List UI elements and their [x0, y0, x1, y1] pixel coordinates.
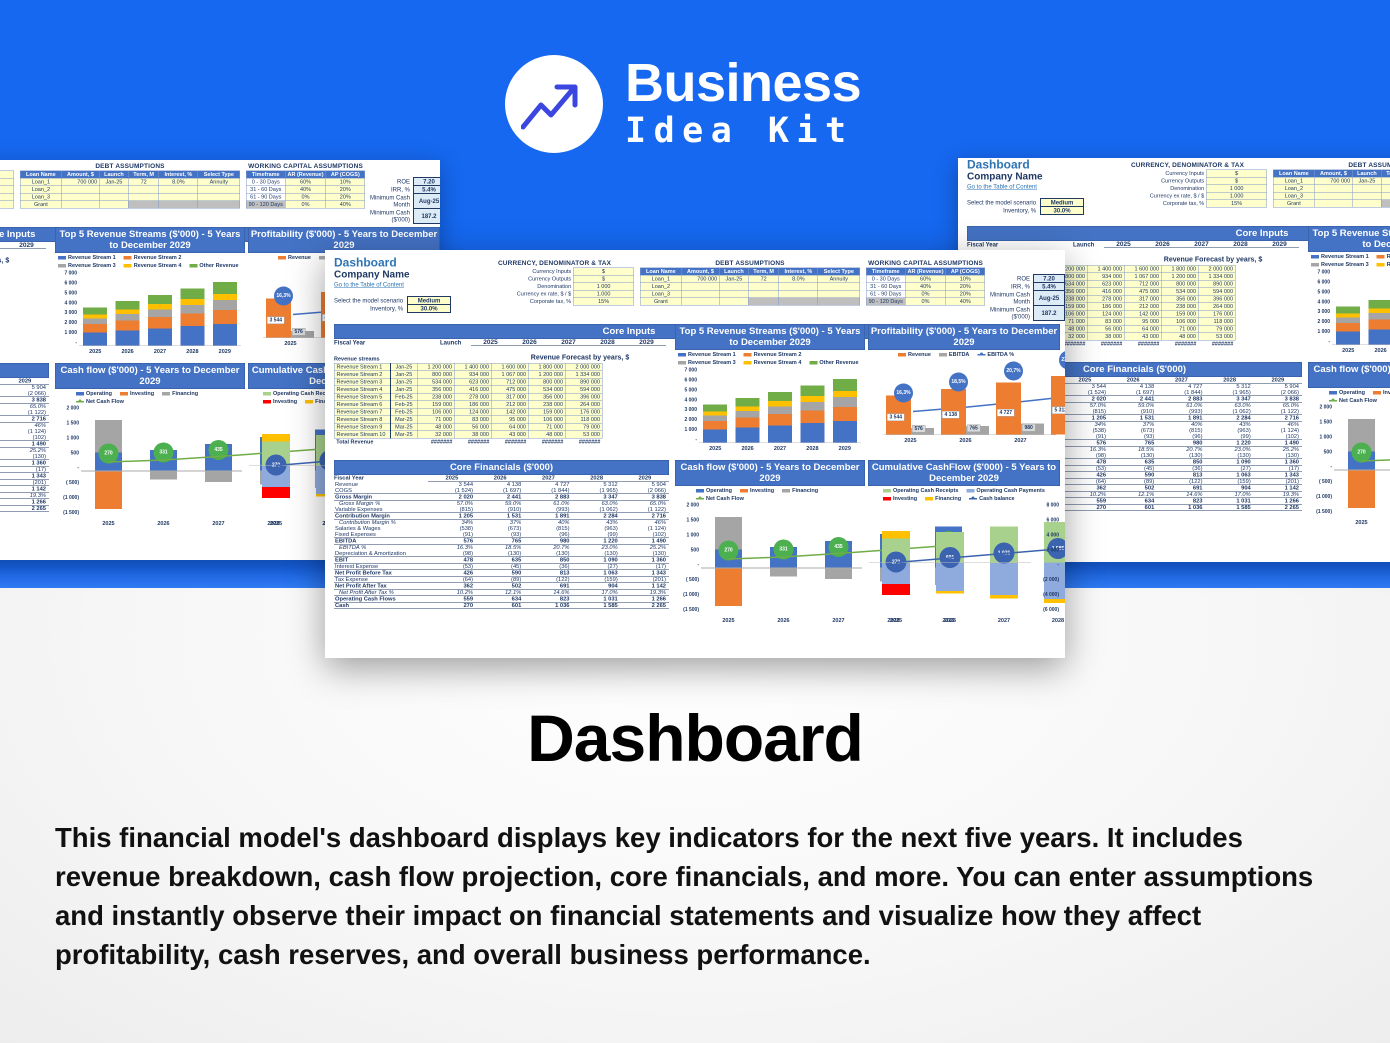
currency-box-caption: CURRENCY, DENOMINATOR & TAX — [1108, 161, 1267, 169]
table-cell[interactable]: Annuity — [818, 275, 860, 283]
stream-value[interactable]: 278 000 — [1087, 295, 1124, 303]
bar-segment — [768, 425, 792, 442]
stream-value[interactable]: 124 000 — [454, 408, 491, 416]
stream-value[interactable]: 534 000 — [417, 378, 454, 386]
bar-segment — [83, 333, 107, 346]
row-value[interactable]: 15% — [573, 298, 633, 306]
bar-segment — [180, 305, 204, 314]
table-row: Revenue Stream 7Feb-25106 000124 000142 … — [334, 408, 602, 416]
table-cell[interactable]: 90 - 120 Days — [866, 298, 905, 306]
stream-name[interactable]: Revenue Stream 4 — [334, 386, 390, 394]
stream-value[interactable]: 800 000 — [528, 378, 565, 386]
table-cell[interactable]: 61 - 90 Days — [246, 193, 285, 201]
table-cell[interactable] — [128, 193, 158, 201]
stream-value[interactable]: 594 000 — [1198, 288, 1235, 296]
stream-launch[interactable]: Jan-25 — [390, 378, 417, 386]
legend-swatch — [1373, 391, 1381, 395]
y-tick: 6 000 — [1033, 517, 1059, 523]
table-cell[interactable]: Loan_3 — [20, 193, 61, 201]
stream-value[interactable]: 95 000 — [491, 416, 528, 424]
debt-section: DEBT ASSUMPTIONSLoan NameAmount, $Launch… — [1273, 161, 1390, 208]
x-tick: 2027 — [824, 618, 854, 624]
revenue-data-label: 5 312 — [1052, 407, 1065, 415]
table-cell[interactable]: Loan_1 — [20, 178, 61, 186]
y-tick: (1 000) — [1309, 494, 1332, 500]
stream-value[interactable]: 56 000 — [454, 423, 491, 431]
screenshot-main[interactable]: DashboardCompany NameGo to the Table of … — [325, 250, 1065, 658]
stream-value[interactable]: 1 400 000 — [454, 363, 491, 371]
table-cell[interactable] — [1381, 200, 1390, 208]
y-tick: 1 000 — [57, 330, 77, 336]
table-of-content-link[interactable]: Go to the Table of Content — [967, 183, 1037, 190]
stream-value[interactable]: 53 000 — [565, 431, 602, 439]
stream-value[interactable]: 159 000 — [1161, 310, 1198, 318]
stream-name[interactable]: Revenue Stream 3 — [334, 378, 390, 386]
x-tick: 2025 — [896, 438, 926, 444]
stream-value[interactable]: 534 000 — [528, 386, 565, 394]
table-cell[interactable] — [61, 193, 99, 201]
legend-swatch — [305, 400, 313, 404]
stream-launch[interactable]: Jan-25 — [390, 386, 417, 394]
stream-value[interactable]: 159 000 — [528, 408, 565, 416]
bar-segment — [83, 324, 107, 333]
stream-value[interactable]: 2 000 000 — [1198, 265, 1235, 273]
table-cell[interactable] — [198, 186, 240, 194]
stream-value[interactable]: 317 000 — [1124, 295, 1161, 303]
table-row: Revenue Stream 9Mar-2548 00056 00064 000… — [334, 423, 602, 431]
stream-value[interactable]: 71 000 — [1161, 325, 1198, 333]
stream-value[interactable]: 238 000 — [528, 401, 565, 409]
bar-segment — [1369, 330, 1390, 345]
stream-launch[interactable]: Feb-25 — [390, 393, 417, 401]
stream-value[interactable]: 79 000 — [565, 423, 602, 431]
inventory-value[interactable]: 30.0% — [1041, 207, 1084, 215]
y-tick: - — [56, 465, 79, 471]
row-value[interactable]: $ — [573, 268, 633, 276]
stream-value[interactable]: 1 067 000 — [491, 371, 528, 379]
table-cell[interactable] — [1314, 192, 1352, 200]
stream-value[interactable]: 56 000 — [1087, 325, 1124, 333]
stream-name[interactable]: Revenue Stream 6 — [334, 401, 390, 409]
launch-label: Launch — [1073, 241, 1094, 248]
y-tick: 6 000 — [57, 280, 77, 286]
stream-value[interactable]: 142 000 — [1124, 310, 1161, 318]
stream-value[interactable]: 623 000 — [1087, 280, 1124, 288]
column-header: Select Type — [818, 268, 860, 276]
stream-value[interactable]: 118 000 — [1198, 318, 1235, 326]
stream-value[interactable]: 238 000 — [1161, 303, 1198, 311]
legend-swatch — [1377, 255, 1385, 259]
legend-swatch — [809, 361, 817, 365]
stream-value[interactable]: 934 000 — [454, 371, 491, 379]
stream-value[interactable]: 317 000 — [491, 393, 528, 401]
table-cell[interactable] — [61, 186, 99, 194]
table-cell[interactable] — [719, 283, 748, 291]
stream-value[interactable]: 95 000 — [1124, 318, 1161, 326]
bar-column — [736, 368, 760, 443]
table-cell[interactable] — [99, 201, 128, 209]
x-tick: 2025 — [714, 618, 744, 624]
kpi-table: ROE7.20IRR, %5.4%Minimum Cash MonthAug-2… — [355, 177, 440, 224]
stream-value[interactable]: 159 000 — [417, 401, 454, 409]
y-tick: ( 500) — [56, 480, 79, 486]
stream-value[interactable]: 264 000 — [565, 401, 602, 409]
x-tick: 2025 — [700, 446, 730, 452]
table-cell[interactable]: Loan_3 — [1273, 192, 1314, 200]
stream-value[interactable]: 1 200 000 — [417, 363, 454, 371]
stream-value[interactable]: 83 000 — [1087, 318, 1124, 326]
table-cell[interactable] — [719, 298, 748, 306]
table-cell[interactable]: 8.0% — [779, 275, 818, 283]
stream-value[interactable]: 83 000 — [454, 416, 491, 424]
scenario-value[interactable]: Medium — [1041, 199, 1084, 207]
stream-value[interactable]: 106 000 — [417, 408, 454, 416]
kpi-value: 7.20 — [414, 178, 441, 186]
table-row: Currency Inputs$ — [475, 268, 634, 276]
chart-profitability: Profitability ($'000) - 5 Years to Decem… — [868, 324, 1060, 450]
table-cell[interactable] — [818, 283, 860, 291]
table-cell[interactable]: Grant — [1273, 200, 1314, 208]
stream-value[interactable]: 1 600 000 — [491, 363, 528, 371]
stream-value[interactable]: 800 000 — [417, 371, 454, 379]
y-tick: 7 000 — [677, 368, 697, 374]
table-cell[interactable]: 72 — [748, 275, 778, 283]
stream-launch[interactable]: Mar-25 — [390, 416, 417, 424]
stream-value[interactable]: 264 000 — [1198, 303, 1235, 311]
sheet-header: DashboardCompany NameGo to the Table of … — [334, 257, 451, 313]
table-cell[interactable]: 700 000 — [61, 178, 99, 186]
stream-value[interactable]: 48 000 — [528, 431, 565, 439]
table-cell[interactable] — [61, 201, 99, 209]
inventory-value[interactable]: 30.0% — [408, 305, 451, 313]
table-cell[interactable]: 31 - 60 Days — [866, 283, 905, 291]
stream-value[interactable]: 1 400 000 — [1087, 265, 1124, 273]
stream-value[interactable]: 475 000 — [1124, 288, 1161, 296]
stream-value[interactable]: 800 000 — [1161, 280, 1198, 288]
table-cell[interactable]: 31 - 60 Days — [246, 186, 285, 194]
table-cell[interactable]: Grant — [20, 201, 61, 209]
table-cell[interactable]: Loan_1 — [1273, 177, 1314, 185]
table-cell[interactable]: Grant — [640, 298, 681, 306]
bar-column — [800, 368, 824, 443]
table-cell[interactable]: 61 - 90 Days — [866, 290, 905, 298]
table-cell[interactable]: Loan_3 — [640, 290, 681, 298]
table-cell[interactable]: 700 000 — [1314, 177, 1352, 185]
table-cell[interactable] — [1352, 192, 1381, 200]
bar-segment — [148, 317, 172, 328]
table-cell[interactable]: Annuity — [198, 178, 240, 186]
table-cell[interactable]: 90 - 120 Days — [246, 201, 285, 209]
stream-value[interactable]: 79 000 — [1198, 325, 1235, 333]
stream-value[interactable]: 32 000 — [417, 431, 454, 439]
row-value[interactable]: $ — [0, 171, 14, 179]
stream-launch[interactable]: Jan-25 — [390, 371, 417, 379]
stream-launch[interactable]: Jan-25 — [390, 363, 417, 371]
table-cell[interactable] — [1381, 185, 1390, 193]
stream-value[interactable]: 212 000 — [1124, 303, 1161, 311]
stream-launch[interactable]: Feb-25 — [390, 408, 417, 416]
stream-value[interactable]: 1 800 000 — [528, 363, 565, 371]
stream-value[interactable]: 48 000 — [1161, 333, 1198, 341]
bar-segment — [833, 407, 857, 421]
scenario-table: Select the model scenarioMediumInventory… — [967, 198, 1084, 215]
row-value[interactable]: 1.000 — [573, 290, 633, 298]
table-cell[interactable] — [681, 283, 719, 291]
stream-value[interactable]: 890 000 — [565, 378, 602, 386]
stream-value[interactable]: 1 200 000 — [528, 371, 565, 379]
row-value[interactable]: 1 000 — [573, 283, 633, 291]
stream-value[interactable]: 124 000 — [1087, 310, 1124, 318]
bar-segment — [800, 410, 824, 423]
year-header: 2029 — [7, 241, 46, 249]
revenue-data-label: 4 727 — [997, 409, 1015, 417]
y-tick: (1 500) — [1309, 509, 1332, 515]
y-tick: 1 000 — [1309, 434, 1332, 440]
table-cell[interactable]: Loan_2 — [1273, 185, 1314, 193]
total-revenue-value: ####### — [528, 438, 565, 445]
table-cell[interactable] — [719, 290, 748, 298]
table-cell[interactable]: 0 - 30 Days — [246, 178, 285, 186]
table-cell[interactable] — [159, 186, 198, 194]
stream-value[interactable]: 71 000 — [528, 423, 565, 431]
scenario-value[interactable]: Medium — [408, 297, 451, 305]
table-cell[interactable] — [681, 290, 719, 298]
row-value[interactable]: $ — [1206, 170, 1266, 178]
table-cell[interactable] — [748, 283, 778, 291]
scenario-label: Select the model scenario — [334, 297, 408, 305]
table-cell[interactable]: 60% — [905, 275, 946, 283]
stream-value[interactable]: 712 000 — [491, 378, 528, 386]
stream-value[interactable]: 48 000 — [417, 423, 454, 431]
table-cell[interactable] — [1352, 200, 1381, 208]
page-description: This financial model's dashboard display… — [55, 818, 1340, 974]
row-value[interactable]: 15% — [0, 201, 14, 209]
stream-value[interactable]: 594 000 — [565, 386, 602, 394]
table-cell[interactable]: 60% — [285, 178, 326, 186]
table-row: 90 - 120 Days0%40% — [246, 201, 365, 209]
column-header: Interest, % — [159, 171, 198, 179]
table-cell[interactable]: 0% — [905, 298, 946, 306]
bar-group: 5 3121 22023,0% — [1048, 360, 1065, 435]
legend-item: Operating — [696, 488, 732, 494]
table-cell[interactable] — [748, 290, 778, 298]
table-cell[interactable] — [159, 193, 198, 201]
y-tick: 6 000 — [1310, 279, 1330, 285]
table-cell[interactable] — [1381, 192, 1390, 200]
stream-value[interactable]: 1 334 000 — [1198, 273, 1235, 281]
stream-value[interactable]: 142 000 — [491, 408, 528, 416]
legend-swatch — [898, 353, 906, 357]
stream-name[interactable]: Revenue Stream 7 — [334, 408, 390, 416]
table-cell[interactable]: 0% — [285, 201, 326, 209]
table-cell[interactable]: Loan_1 — [640, 275, 681, 283]
row-value[interactable]: $ — [573, 275, 633, 283]
stream-value[interactable]: 186 000 — [1087, 303, 1124, 311]
table-cell[interactable] — [159, 201, 198, 209]
kpi-row: Minimum Cash MonthAug-25 — [975, 291, 1065, 306]
table-cell[interactable]: 40% — [285, 186, 326, 194]
table-cell[interactable]: Loan_2 — [640, 283, 681, 291]
row-value[interactable]: 1.000 — [0, 193, 14, 201]
bar-segment — [148, 295, 172, 304]
table-cell[interactable] — [1314, 185, 1352, 193]
legend-swatch — [883, 489, 891, 493]
stream-name[interactable]: Revenue Stream 8 — [334, 416, 390, 424]
legend-swatch — [939, 353, 947, 357]
stream-value[interactable]: 212 000 — [491, 401, 528, 409]
x-axis-top5: 20252026202720282029 — [1332, 348, 1390, 354]
wc-section: WORKING CAPITAL ASSUMPTIONSTimeframeAR (… — [246, 162, 365, 209]
row-value[interactable]: $ — [0, 178, 14, 186]
stream-value[interactable]: 1 800 000 — [1161, 265, 1198, 273]
legend-label: Revenue Stream 1 — [68, 255, 116, 261]
stream-value[interactable]: 356 000 — [528, 393, 565, 401]
table-cell[interactable] — [128, 201, 158, 209]
stream-value[interactable]: 890 000 — [1198, 280, 1235, 288]
legend-label: Operating Cash Payments — [976, 488, 1044, 494]
legend-swatch — [1377, 263, 1385, 267]
x-tick: 2027 — [989, 618, 1019, 624]
stream-value[interactable]: 1 600 000 — [1124, 265, 1161, 273]
y-tick: 2 000 — [676, 503, 699, 509]
table-cell[interactable] — [99, 186, 128, 194]
bar-segment — [116, 321, 140, 331]
stream-value[interactable]: 186 000 — [454, 401, 491, 409]
year-header: 2028 — [588, 338, 627, 346]
row-value[interactable]: 1.000 — [1206, 192, 1266, 200]
stream-value[interactable]: 1 200 000 — [1161, 273, 1198, 281]
x-tick: 2028 — [797, 446, 827, 452]
bar-segment — [703, 405, 727, 412]
kpi-value: 7.20 — [1034, 275, 1065, 283]
table-cell[interactable]: 0 - 30 Days — [866, 275, 905, 283]
stream-value[interactable]: 534 000 — [1161, 288, 1198, 296]
stream-launch[interactable]: Mar-25 — [390, 431, 417, 439]
stream-value[interactable]: 176 000 — [1198, 310, 1235, 318]
x-tick: 2026 — [769, 618, 799, 624]
y-tick: 1 000 — [1310, 329, 1330, 335]
stream-value[interactable]: 64 000 — [491, 423, 528, 431]
stream-value[interactable]: 38 000 — [1087, 333, 1124, 341]
stream-value[interactable]: 475 000 — [491, 386, 528, 394]
column-header: Amount, $ — [1314, 170, 1352, 178]
table-cell[interactable] — [779, 298, 818, 306]
table-cell[interactable]: 700 000 — [681, 275, 719, 283]
table-cell[interactable] — [748, 298, 778, 306]
table-cell[interactable]: 0% — [905, 290, 946, 298]
stream-value[interactable]: 43 000 — [1124, 333, 1161, 341]
legend-item: Operating — [76, 391, 112, 397]
table-cell[interactable] — [198, 193, 240, 201]
currency-box: CURRENCY, DENOMINATOR & TAXCurrency Inpu… — [475, 259, 634, 306]
row-value: 270 — [1061, 504, 1109, 511]
inventory-row: Inventory, %30.0% — [967, 207, 1084, 215]
stream-value[interactable]: 712 000 — [1124, 280, 1161, 288]
stream-value[interactable]: 106 000 — [1161, 318, 1198, 326]
stream-value[interactable]: 396 000 — [565, 393, 602, 401]
table-row: Currency Inputs$ — [1108, 170, 1267, 178]
stream-value[interactable]: 176 000 — [565, 408, 602, 416]
bars-top5 — [1332, 270, 1390, 345]
stream-value[interactable]: 356 000 — [1161, 295, 1198, 303]
table-row: 31 - 60 Days40%20% — [246, 186, 365, 194]
stream-value[interactable]: 64 000 — [1124, 325, 1161, 333]
stream-value[interactable]: 934 000 — [1087, 273, 1124, 281]
stream-value[interactable]: 1 067 000 — [1124, 273, 1161, 281]
row-value[interactable]: 1 000 — [1206, 185, 1266, 193]
stream-value[interactable]: 416 000 — [1087, 288, 1124, 296]
table-cell[interactable]: Loan_2 — [20, 186, 61, 194]
bars-top5 — [699, 368, 861, 443]
stream-value[interactable]: 356 000 — [417, 386, 454, 394]
stream-value[interactable]: 396 000 — [1198, 295, 1235, 303]
debt-box-caption: DEBT ASSUMPTIONS — [640, 259, 860, 267]
stream-value[interactable]: 1 334 000 — [565, 371, 602, 379]
legend-swatch — [189, 264, 197, 268]
table-cell[interactable]: 72 — [128, 178, 158, 186]
table-cell[interactable] — [1314, 200, 1352, 208]
stream-value[interactable]: 238 000 — [417, 393, 454, 401]
table-cell[interactable] — [1352, 185, 1381, 193]
table-cell[interactable] — [779, 283, 818, 291]
stream-value[interactable]: 106 000 — [528, 416, 565, 424]
stream-value[interactable]: 71 000 — [417, 416, 454, 424]
table-cell[interactable] — [818, 290, 860, 298]
table-cell[interactable]: Jan-25 — [719, 275, 748, 283]
stream-value[interactable]: 53 000 — [1198, 333, 1235, 341]
table-cell[interactable]: 40% — [905, 283, 946, 291]
table-cell[interactable] — [128, 186, 158, 194]
stream-value[interactable]: 118 000 — [565, 416, 602, 424]
stream-name[interactable]: Revenue Stream 2 — [334, 371, 390, 379]
stream-launch[interactable]: Mar-25 — [390, 423, 417, 431]
row-value[interactable]: $ — [1206, 177, 1266, 185]
table-cell[interactable] — [198, 201, 240, 209]
stream-value[interactable]: 38 000 — [454, 431, 491, 439]
stream-name[interactable]: Revenue Stream 5 — [334, 393, 390, 401]
stream-launch[interactable]: Feb-25 — [390, 401, 417, 409]
stream-value[interactable]: 43 000 — [491, 431, 528, 439]
table-cell[interactable] — [818, 298, 860, 306]
legend-label: Investing — [750, 488, 774, 494]
x-axis-profitability: 20252026202720282029 — [883, 438, 1065, 444]
row-value[interactable]: 1 000 — [0, 186, 14, 194]
table-cell[interactable]: 72 — [1381, 177, 1390, 185]
y-tick: ( 500) — [676, 577, 699, 583]
table-cell[interactable] — [681, 298, 719, 306]
y-tick: 3 000 — [57, 310, 77, 316]
table-cell[interactable]: Jan-25 — [99, 178, 128, 186]
table-cell[interactable]: 0% — [285, 193, 326, 201]
table-cell[interactable] — [99, 193, 128, 201]
stream-value[interactable]: 2 000 000 — [565, 363, 602, 371]
kpi-label: Minimum Cash ($'000) — [355, 209, 414, 224]
table-cell[interactable] — [779, 290, 818, 298]
table-cell[interactable]: Jan-25 — [1352, 177, 1381, 185]
stream-name[interactable]: Revenue Stream 1 — [334, 363, 390, 371]
x-tick: 2028 — [1061, 438, 1066, 444]
scenario-row: Select the model scenarioMedium — [334, 297, 451, 305]
stream-value[interactable]: 623 000 — [454, 378, 491, 386]
table-of-content-link[interactable]: Go to the Table of Content — [334, 281, 404, 288]
stream-name[interactable]: Revenue Stream 9 — [334, 423, 390, 431]
stream-value[interactable]: 278 000 — [454, 393, 491, 401]
table-cell[interactable]: 8.0% — [159, 178, 198, 186]
stream-value[interactable]: 416 000 — [454, 386, 491, 394]
core-financials-table: Fiscal Year20252026202720282029Revenue3 … — [0, 378, 49, 512]
row-value[interactable]: 15% — [1206, 200, 1266, 208]
stream-name[interactable]: Revenue Stream 10 — [334, 431, 390, 439]
